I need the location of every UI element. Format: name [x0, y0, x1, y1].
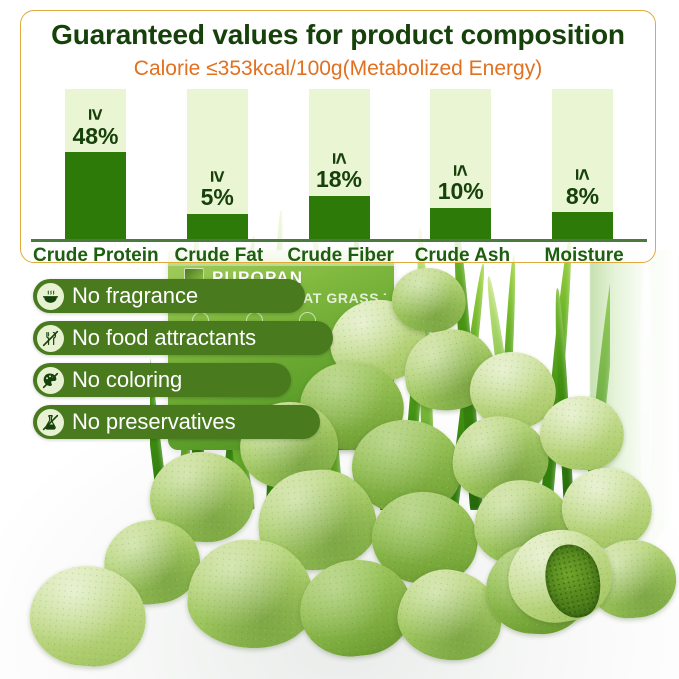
bar-chart-plot: ≥ 48% ≥ 5% ≤ 18%	[31, 89, 647, 257]
no-attractants-icon	[37, 325, 64, 352]
axis-label-crude-ash: Crude Ash	[402, 245, 524, 267]
bar-crude-fat: ≥ 5%	[187, 89, 248, 239]
chart-subtitle: Calorie ≤353kcal/100g(Metabolized Energy…	[21, 57, 655, 81]
bar-value-label: 18%	[309, 168, 370, 191]
badge-label: No fragrance	[72, 283, 220, 309]
axis-label-crude-fiber: Crude Fiber	[280, 245, 402, 267]
bar-fill	[309, 196, 370, 240]
chart-category-labels: Crude Protein Crude Fat Crude Fiber Crud…	[31, 245, 647, 267]
bar-crude-ash: ≤ 10%	[430, 89, 491, 239]
chart-baseline-axis	[31, 239, 647, 242]
bar-fill	[430, 208, 491, 240]
badge-no-food-attractants: No food attractants	[33, 321, 333, 355]
axis-label-crude-protein: Crude Protein	[33, 245, 158, 267]
bar-fill	[187, 214, 248, 240]
bar-crude-fiber: ≤ 18%	[309, 89, 370, 239]
chart-title: Guaranteed values for product compositio…	[21, 19, 655, 51]
badge-label: No food attractants	[72, 325, 278, 351]
bar-value-label: 5%	[187, 186, 248, 209]
bar-fill	[65, 152, 126, 239]
bar-value-label: 8%	[552, 185, 613, 208]
axis-label-moisture: Moisture	[523, 245, 645, 267]
badge-no-coloring: No coloring	[33, 363, 291, 397]
bar-value-label: 10%	[430, 180, 491, 203]
bar-group: ≥ 48% ≥ 5% ≤ 18%	[31, 89, 647, 239]
axis-label-crude-fat: Crude Fat	[158, 245, 280, 267]
badge-no-preservatives: No preservatives	[33, 405, 320, 439]
badge-label: No preservatives	[72, 409, 257, 435]
no-preservatives-icon	[37, 409, 64, 436]
bar-fill	[552, 212, 613, 239]
no-fragrance-icon	[37, 283, 64, 310]
product-infographic: PUPOPAN FREEZE DRIED CAT GRASS TREAT Pet…	[0, 0, 679, 679]
bar-moisture: ≤ 8%	[552, 89, 613, 239]
feature-badge-list: No fragrance No food attractants	[33, 279, 333, 447]
bar-crude-protein: ≥ 48%	[65, 89, 126, 239]
badge-label: No coloring	[72, 367, 204, 393]
no-coloring-icon	[37, 367, 64, 394]
bar-value-label: 48%	[65, 125, 126, 148]
badge-no-fragrance: No fragrance	[33, 279, 305, 313]
composition-chart-card: Guaranteed values for product compositio…	[20, 10, 656, 263]
